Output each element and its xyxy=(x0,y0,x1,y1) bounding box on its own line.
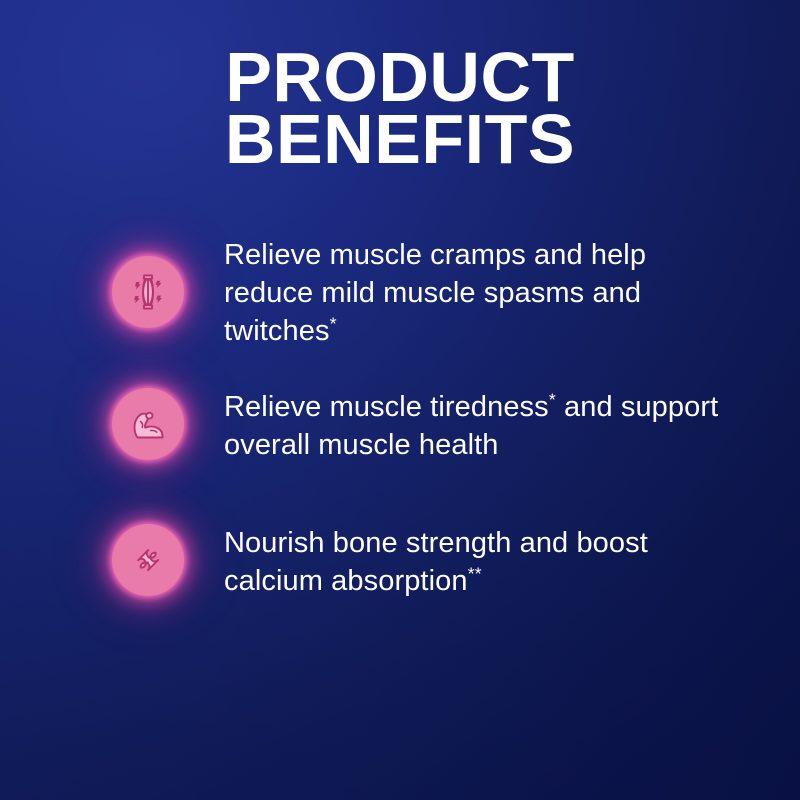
footnote-marker-2: * xyxy=(549,389,556,409)
benefit-label-1: Relieve muscle cramps and help reduce mi… xyxy=(224,239,646,347)
page-title-line-1: PRODUCT xyxy=(0,46,800,108)
product-benefits-poster: PRODUCT BENEFITS xyxy=(0,0,800,800)
footnote-marker-1: * xyxy=(330,313,337,333)
benefit-label-3: Nourish bone strength and boost calcium … xyxy=(224,527,648,597)
benefit-item-muscle-tiredness: Relieve muscle tiredness* and support ov… xyxy=(0,386,800,486)
benefit-text-muscle-cramps: Relieve muscle cramps and help reduce mi… xyxy=(224,236,724,350)
page-title: PRODUCT BENEFITS xyxy=(0,46,800,170)
benefits-list: Relieve muscle cramps and help reduce mi… xyxy=(0,236,800,622)
muscle-fiber-icon xyxy=(112,256,184,328)
benefit-label-2a: Relieve muscle tiredness xyxy=(224,391,549,423)
benefit-text-muscle-tiredness: Relieve muscle tiredness* and support ov… xyxy=(224,386,724,464)
benefit-item-muscle-cramps: Relieve muscle cramps and help reduce mi… xyxy=(0,236,800,350)
page-title-line-2: BENEFITS xyxy=(0,108,800,170)
flexed-bicep-icon xyxy=(112,388,184,460)
bone-icon xyxy=(112,524,184,596)
footnote-marker-3: ** xyxy=(468,563,482,583)
benefit-text-bone-strength: Nourish bone strength and boost calcium … xyxy=(224,522,724,600)
benefit-item-bone-strength: Nourish bone strength and boost calcium … xyxy=(0,522,800,622)
